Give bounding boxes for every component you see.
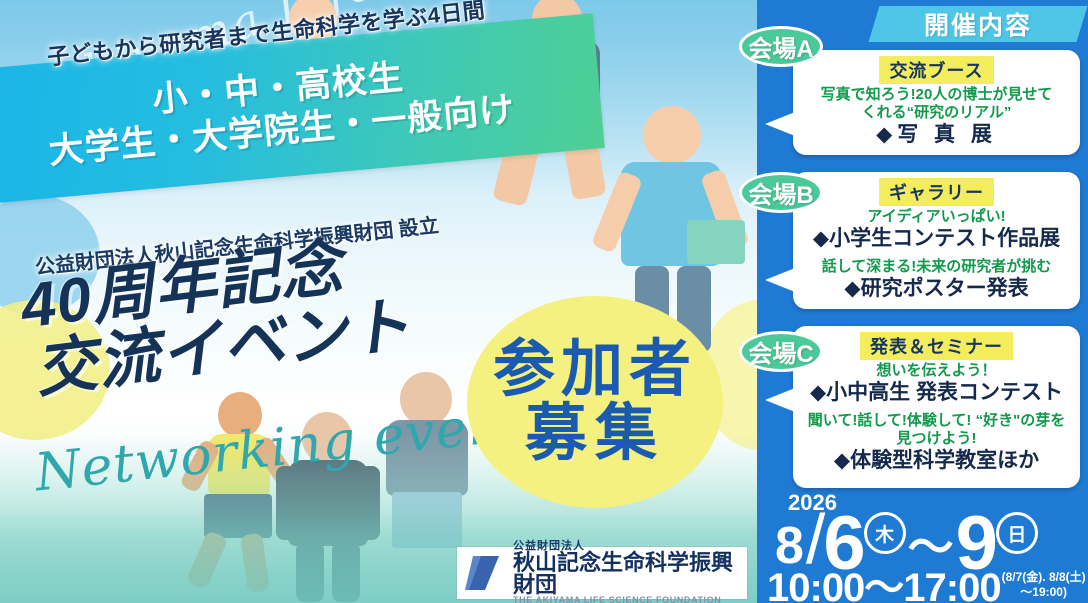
poster: Akiyama Life Sci The Foun <box>0 0 1088 603</box>
event-time: 10:00〜17:00 <box>767 568 1001 603</box>
event-time-note-line-1: (8/7(金). 8/8(土) <box>1002 570 1086 584</box>
recruitment-badge-line-1: 参加者 <box>493 339 697 401</box>
program-card-b-sub-1: アイディアいっぱい! <box>799 208 1074 226</box>
event-time-row: 10:00〜17:00 (8/7(金). 8/8(土) 〜19:00) <box>767 568 1086 603</box>
program-card-a-sub-1: 写真で知ろう!20人の博士が見せて <box>799 86 1074 104</box>
logo-main-line: 秋山記念生命科学振興財団 <box>513 552 739 596</box>
logo-text-group: 公益財団法人 秋山記念生命科学振興財団 THE AKIYAMA LIFE SCI… <box>513 541 739 603</box>
program-card-a-tag: 交流ブース <box>879 56 993 84</box>
program-card-c-item-1: ◆小中高生 発表コンテスト <box>799 381 1074 405</box>
event-dayofweek-start: 木 <box>864 512 906 554</box>
program-card-c: 発表＆セミナー 想いを伝えよう！ ◆小中高生 発表コンテスト 聞いて!話して!体… <box>793 326 1080 488</box>
program-card-b: ギャラリー アイディアいっぱい! ◆小学生コンテスト作品展 話して深まる!未来の… <box>793 172 1080 309</box>
program-header-label: 開催内容 <box>874 6 1082 42</box>
event-time-note: (8/7(金). 8/8(土) 〜19:00) <box>1002 570 1086 600</box>
venue-badge-c: 会場C <box>739 331 823 372</box>
event-dayofweek-end: 日 <box>996 512 1038 554</box>
program-card-b-sub-2: 話して深まる!未来の研究者が挑む <box>799 258 1074 276</box>
event-time-note-line-2: 〜19:00) <box>1020 585 1067 599</box>
program-card-c-sub-1: 想いを伝えよう！ <box>799 362 1074 380</box>
program-card-a-item: ◆写 真 展 <box>799 123 1074 147</box>
program-card-c-sub-2b: 見つけよう! <box>799 430 1074 448</box>
event-date-block: 2026 8 / 6 木 〜 9 日 10:00〜17:00 (8/7(金). … <box>757 490 1088 603</box>
program-card-b-item-2: ◆研究ポスター発表 <box>799 277 1074 301</box>
venue-badge-a: 会場A <box>739 26 823 67</box>
program-card-c-sub-2a: 聞いて!話して!体験して! “好き"の芽を <box>799 412 1074 430</box>
event-date-range-mark: 〜 <box>908 524 954 570</box>
program-card-b-tag: ギャラリー <box>879 178 994 206</box>
event-month: 8 <box>775 520 804 572</box>
venue-badge-b: 会場B <box>739 172 823 213</box>
recruitment-badge: 参加者 募集 <box>467 296 723 508</box>
program-card-a-sub-2: くれる“研究のリアル” <box>799 104 1074 122</box>
recruitment-badge-line-2: 募集 <box>525 403 665 465</box>
program-card-c-item-2: ◆体験型科学教室ほか <box>799 449 1074 473</box>
logo-slash-icon <box>465 554 505 592</box>
program-card-c-tag: 発表＆セミナー <box>860 332 1013 360</box>
foundation-logo: 公益財団法人 秋山記念生命科学振興財団 THE AKIYAMA LIFE SCI… <box>457 547 747 599</box>
program-card-a: 交流ブース 写真で知ろう!20人の博士が見せて くれる“研究のリアル” ◆写 真… <box>793 50 1080 155</box>
logo-english-line: THE AKIYAMA LIFE SCIENCE FOUNDATION <box>513 596 739 603</box>
program-card-b-item-1: ◆小学生コンテスト作品展 <box>799 227 1074 251</box>
